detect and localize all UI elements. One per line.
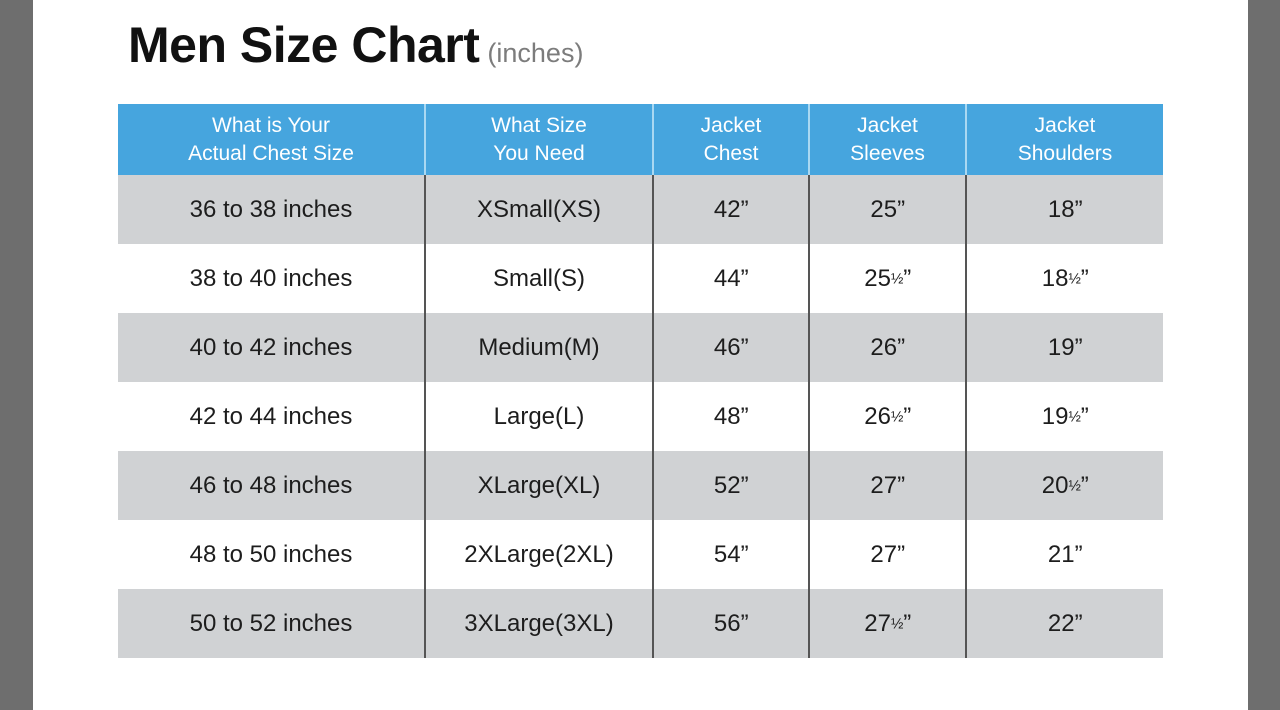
measure-whole: 27 (864, 610, 891, 637)
table-row: 42 to 44 inchesLarge(L)48”26½”19½” (118, 382, 1163, 451)
measure-whole: 56 (714, 610, 741, 637)
column-header-line-2: You Need (426, 140, 652, 168)
measure-fraction: ½ (891, 271, 903, 287)
measure-whole: 46 (714, 334, 741, 361)
measure-inch-mark: ” (741, 196, 749, 223)
table-body: 36 to 38 inchesXSmall(XS)42”25”18”38 to … (118, 175, 1163, 658)
cell-actual-chest-size: 40 to 42 inches (118, 313, 425, 382)
cell-jacket-shoulders: 20½” (966, 451, 1163, 520)
cell-actual-chest-size: 48 to 50 inches (118, 520, 425, 589)
measure-inch-mark: ” (741, 541, 749, 568)
cell-jacket-shoulders: 19” (966, 313, 1163, 382)
column-header-line-1: What is Your (118, 112, 424, 140)
cell-jacket-sleeves: 27” (809, 520, 966, 589)
measure-whole: 54 (714, 541, 741, 568)
measure-whole: 21 (1048, 541, 1075, 568)
cell-jacket-sleeves: 27½” (809, 589, 966, 658)
measure-inch-mark: ” (741, 334, 749, 361)
cell-size-you-need: XLarge(XL) (425, 451, 653, 520)
page-title: Men Size Chart(inches) (128, 20, 583, 70)
measure-inch-mark: ” (897, 472, 905, 499)
measure-whole: 42 (714, 196, 741, 223)
measure-inch-mark: ” (1075, 541, 1083, 568)
measure-whole: 18 (1048, 196, 1075, 223)
table-header: What is Your Actual Chest Size What Size… (118, 104, 1163, 175)
measure-whole: 22 (1048, 610, 1075, 637)
measure-inch-mark: ” (1081, 472, 1089, 499)
column-header-jacket-sleeves: Jacket Sleeves (809, 104, 966, 175)
measure-inch-mark: ” (1075, 334, 1083, 361)
measure-inch-mark: ” (741, 472, 749, 499)
column-header-line-1: Jacket (810, 112, 965, 140)
measure-whole: 52 (714, 472, 741, 499)
cell-jacket-chest: 42” (653, 175, 809, 244)
cell-jacket-shoulders: 19½” (966, 382, 1163, 451)
cell-size-you-need: Large(L) (425, 382, 653, 451)
cell-size-you-need: XSmall(XS) (425, 175, 653, 244)
measure-whole: 26 (870, 334, 897, 361)
cell-jacket-chest: 54” (653, 520, 809, 589)
measure-fraction: ½ (891, 409, 903, 425)
cell-jacket-sleeves: 26” (809, 313, 966, 382)
letterbox-bar-left (0, 0, 33, 710)
measure-inch-mark: ” (897, 541, 905, 568)
size-chart-canvas: Men Size Chart(inches) What is Your Actu… (33, 0, 1248, 710)
measure-inch-mark: ” (1081, 403, 1089, 430)
measure-fraction: ½ (1068, 271, 1080, 287)
measure-whole: 20 (1042, 472, 1069, 499)
cell-jacket-chest: 48” (653, 382, 809, 451)
measure-inch-mark: ” (903, 610, 911, 637)
cell-actual-chest-size: 50 to 52 inches (118, 589, 425, 658)
men-size-chart-table: What is Your Actual Chest Size What Size… (118, 104, 1163, 658)
column-header-line-2: Sleeves (810, 140, 965, 168)
measure-inch-mark: ” (1075, 610, 1083, 637)
measure-inch-mark: ” (1075, 196, 1083, 223)
cell-jacket-chest: 46” (653, 313, 809, 382)
cell-jacket-sleeves: 25½” (809, 244, 966, 313)
measure-whole: 27 (870, 472, 897, 499)
cell-actual-chest-size: 36 to 38 inches (118, 175, 425, 244)
cell-jacket-shoulders: 22” (966, 589, 1163, 658)
table-row: 36 to 38 inchesXSmall(XS)42”25”18” (118, 175, 1163, 244)
measure-inch-mark: ” (903, 265, 911, 292)
measure-inch-mark: ” (897, 196, 905, 223)
measure-fraction: ½ (1068, 409, 1080, 425)
cell-jacket-chest: 44” (653, 244, 809, 313)
measure-whole: 48 (714, 403, 741, 430)
column-header-size-you-need: What Size You Need (425, 104, 653, 175)
page-title-main: Men Size Chart (128, 17, 479, 73)
cell-jacket-sleeves: 25” (809, 175, 966, 244)
column-header-line-2: Actual Chest Size (118, 140, 424, 168)
table-header-row: What is Your Actual Chest Size What Size… (118, 104, 1163, 175)
column-header-jacket-shoulders: Jacket Shoulders (966, 104, 1163, 175)
cell-size-you-need: 2XLarge(2XL) (425, 520, 653, 589)
cell-actual-chest-size: 38 to 40 inches (118, 244, 425, 313)
measure-inch-mark: ” (741, 265, 749, 292)
measure-whole: 18 (1042, 265, 1069, 292)
table-row: 50 to 52 inches3XLarge(3XL)56”27½”22” (118, 589, 1163, 658)
table-row: 48 to 50 inches2XLarge(2XL)54”27”21” (118, 520, 1163, 589)
measure-whole: 26 (864, 403, 891, 430)
measure-fraction: ½ (891, 616, 903, 632)
measure-inch-mark: ” (741, 610, 749, 637)
column-header-line-2: Shoulders (967, 140, 1163, 168)
measure-inch-mark: ” (1081, 265, 1089, 292)
measure-whole: 25 (864, 265, 891, 292)
measure-whole: 44 (714, 265, 741, 292)
cell-jacket-shoulders: 21” (966, 520, 1163, 589)
table-row: 40 to 42 inchesMedium(M)46”26”19” (118, 313, 1163, 382)
measure-whole: 19 (1042, 403, 1069, 430)
measure-inch-mark: ” (741, 403, 749, 430)
measure-inch-mark: ” (897, 334, 905, 361)
measure-whole: 27 (870, 541, 897, 568)
column-header-line-1: What Size (426, 112, 652, 140)
column-header-actual-chest-size: What is Your Actual Chest Size (118, 104, 425, 175)
cell-size-you-need: Small(S) (425, 244, 653, 313)
cell-actual-chest-size: 42 to 44 inches (118, 382, 425, 451)
cell-size-you-need: Medium(M) (425, 313, 653, 382)
cell-jacket-chest: 56” (653, 589, 809, 658)
cell-jacket-shoulders: 18½” (966, 244, 1163, 313)
page-frame: Men Size Chart(inches) What is Your Actu… (0, 0, 1280, 710)
letterbox-bar-right (1248, 0, 1280, 710)
cell-jacket-chest: 52” (653, 451, 809, 520)
cell-jacket-sleeves: 26½” (809, 382, 966, 451)
cell-jacket-shoulders: 18” (966, 175, 1163, 244)
measure-whole: 19 (1048, 334, 1075, 361)
measure-whole: 25 (870, 196, 897, 223)
table-row: 38 to 40 inchesSmall(S)44”25½”18½” (118, 244, 1163, 313)
column-header-line-2: Chest (654, 140, 808, 168)
measure-inch-mark: ” (903, 403, 911, 430)
measure-fraction: ½ (1068, 478, 1080, 494)
cell-jacket-sleeves: 27” (809, 451, 966, 520)
cell-actual-chest-size: 46 to 48 inches (118, 451, 425, 520)
column-header-jacket-chest: Jacket Chest (653, 104, 809, 175)
column-header-line-1: Jacket (967, 112, 1163, 140)
table-row: 46 to 48 inchesXLarge(XL)52”27”20½” (118, 451, 1163, 520)
page-title-units: (inches) (487, 38, 583, 68)
column-header-line-1: Jacket (654, 112, 808, 140)
cell-size-you-need: 3XLarge(3XL) (425, 589, 653, 658)
